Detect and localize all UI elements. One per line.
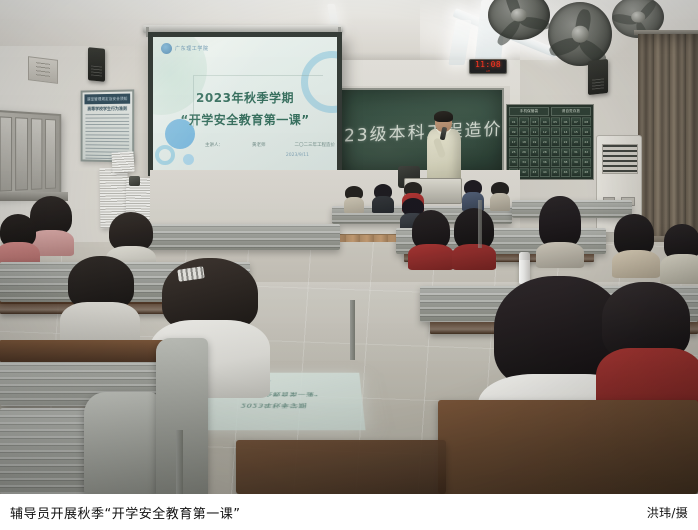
pocket-cell: 11 xyxy=(530,127,539,136)
pocket-cell: 40 xyxy=(582,158,591,167)
furniture-leg xyxy=(478,200,482,248)
desk-cup xyxy=(129,176,140,186)
slide-title-line-1: 2023年秋季学期 xyxy=(153,89,337,106)
notice-header: 课室管理规定及安全须知 xyxy=(84,94,130,105)
wall-fan-icon xyxy=(548,2,612,66)
shelf-slot xyxy=(0,116,12,191)
pocket-cell: 26 xyxy=(519,148,528,157)
notice-subtitle: 高等学校学生行为准则 xyxy=(83,106,133,113)
classroom-photograph: 23级本科工程造价 11:08 AM 手机保管袋 请自觉存放 010203040… xyxy=(0,0,698,494)
pocket-cell: 22 xyxy=(561,137,570,146)
slide-decor-dot xyxy=(183,154,194,165)
seat-back-foreground xyxy=(84,392,158,494)
pocket-cell: 14 xyxy=(561,127,570,136)
pocket-row: 4142434445464748 xyxy=(509,168,591,177)
reflection-line-2: 2023年秋季学期 xyxy=(183,402,363,409)
pocket-cell: 04 xyxy=(540,117,549,126)
student-mid xyxy=(410,210,452,266)
student-far xyxy=(490,182,510,210)
presenter-speaker xyxy=(424,112,464,184)
led-wall-clock: 11:08 AM xyxy=(469,59,507,74)
pocket-cell: 13 xyxy=(551,127,560,136)
pocket-cell: 17 xyxy=(509,137,518,146)
pocket-cell: 19 xyxy=(530,137,539,146)
pocket-cell: 46 xyxy=(561,168,570,177)
slide-decor-ring xyxy=(155,145,175,165)
logo-mark-icon xyxy=(161,43,172,54)
pocket-header-left: 手机保管袋 xyxy=(509,107,549,116)
pocket-row: 1718192021222324 xyxy=(509,137,591,146)
pocket-cell: 06 xyxy=(561,117,570,126)
student-foreground xyxy=(60,256,140,352)
pocket-cell: 25 xyxy=(509,148,518,157)
wall-vent xyxy=(28,56,58,84)
pocket-cell: 37 xyxy=(551,158,560,167)
university-logo: 广东理工学院 xyxy=(161,43,209,54)
phone-storage-board: 手机保管袋 请自觉存放 0102030405060708091011121314… xyxy=(506,104,594,180)
slide-title-line-2: “开学安全教育第一课” xyxy=(153,111,337,128)
student-mid xyxy=(612,214,658,276)
pocket-cell: 08 xyxy=(582,117,591,126)
slide-presenter-label: 主讲人： xyxy=(205,142,223,148)
pocket-cell: 38 xyxy=(561,158,570,167)
clock-meridiem: AM xyxy=(486,70,490,73)
pocket-cell: 31 xyxy=(571,148,580,157)
projection-slide: 广东理工学院 2023年秋季学期 “开学安全教育第一课” 主讲人： 黄老师 二〇… xyxy=(153,37,337,171)
wall-speaker xyxy=(588,59,608,95)
student-far xyxy=(372,184,394,212)
presenter-hair xyxy=(434,111,453,122)
projection-screen: 广东理工学院 2023年秋季学期 “开学安全教育第一课” 主讲人： 黄老师 二〇… xyxy=(148,32,342,176)
pocket-cell: 27 xyxy=(530,148,539,157)
pocket-cell: 33 xyxy=(509,158,518,167)
logo-text: 广东理工学院 xyxy=(175,45,209,52)
pocket-cell: 01 xyxy=(509,117,518,126)
pocket-cell: 47 xyxy=(571,168,580,177)
clock-time-display: 11:08 xyxy=(475,61,501,69)
pocket-cell: 39 xyxy=(571,158,580,167)
shelf-slot xyxy=(15,117,27,191)
pocket-cell: 20 xyxy=(540,137,549,146)
pocket-cell: 10 xyxy=(519,127,528,136)
slide-department: 二〇二三年工程造价 xyxy=(295,142,336,148)
student-mid xyxy=(452,208,496,266)
pocket-row: 0102030405060708 xyxy=(509,117,591,126)
photo-caption: 辅导员开展秋季“开学安全教育第一课” xyxy=(10,503,240,522)
ac-vent-grille xyxy=(602,144,638,174)
caption-bar: 辅导员开展秋季“开学安全教育第一课” 洪玮/摄 xyxy=(0,494,698,530)
pocket-cell: 15 xyxy=(571,127,580,136)
shelf-slot xyxy=(45,119,56,189)
pocket-cell: 32 xyxy=(582,148,591,157)
shelf-slot xyxy=(30,118,42,190)
pocket-cell: 30 xyxy=(561,148,570,157)
thermos-cap xyxy=(519,252,530,260)
student-far xyxy=(344,186,364,212)
pocket-cell: 36 xyxy=(540,158,549,167)
slide-presenter-name: 黄老师 xyxy=(252,142,266,148)
pocket-row: 3334353637383940 xyxy=(509,158,591,167)
pocket-cell: 03 xyxy=(530,117,539,126)
desk-front-foreground xyxy=(236,440,446,494)
pocket-cell: 45 xyxy=(551,168,560,177)
desk-front-foreground xyxy=(438,400,698,494)
pocket-cell: 09 xyxy=(509,127,518,136)
pocket-row: 2526272829303132 xyxy=(509,148,591,157)
pocket-cell: 23 xyxy=(571,137,580,146)
blackboard: 23级本科工程造价 xyxy=(336,88,504,176)
pocket-cell: 12 xyxy=(540,127,549,136)
pocket-grid: 0102030405060708091011121314151617181920… xyxy=(509,117,591,177)
pocket-cell: 05 xyxy=(551,117,560,126)
bench-row-mid xyxy=(140,224,340,250)
photo-credit: 洪玮/摄 xyxy=(647,504,688,521)
pocket-cell: 21 xyxy=(551,137,560,146)
pocket-cell: 34 xyxy=(519,158,528,167)
pocket-cell: 16 xyxy=(582,127,591,136)
furniture-leg xyxy=(176,430,183,494)
slide-date: 2023/9/11 xyxy=(286,153,309,158)
pocket-cell: 29 xyxy=(551,148,560,157)
window-curtain xyxy=(638,34,698,244)
wall-shelf-unit xyxy=(0,110,61,199)
wall-speaker xyxy=(88,47,105,81)
pocket-cell: 48 xyxy=(582,168,591,177)
screenshot-root: 23级本科工程造价 11:08 AM 手机保管袋 请自觉存放 010203040… xyxy=(0,0,698,530)
pocket-cell: 24 xyxy=(582,137,591,146)
pocket-cell: 07 xyxy=(571,117,580,126)
pocket-cell: 02 xyxy=(519,117,528,126)
paper-stack xyxy=(111,151,134,172)
pocket-cell: 43 xyxy=(530,168,539,177)
student-mid xyxy=(536,196,584,264)
pocket-cell: 42 xyxy=(519,168,528,177)
pocket-board-header: 手机保管袋 请自觉存放 xyxy=(509,107,591,116)
pocket-header-right: 请自觉存放 xyxy=(551,107,591,116)
pocket-cell: 18 xyxy=(519,137,528,146)
pocket-cell: 28 xyxy=(540,148,549,157)
pocket-cell: 44 xyxy=(540,168,549,177)
student-mid xyxy=(664,224,698,282)
desk-surface-foreground xyxy=(0,340,172,362)
slide-metadata: 主讲人： 黄老师 二〇二三年工程造价 xyxy=(205,142,335,148)
furniture-leg xyxy=(350,300,355,360)
pocket-row: 0910111213141516 xyxy=(509,127,591,136)
pocket-cell: 35 xyxy=(530,158,539,167)
